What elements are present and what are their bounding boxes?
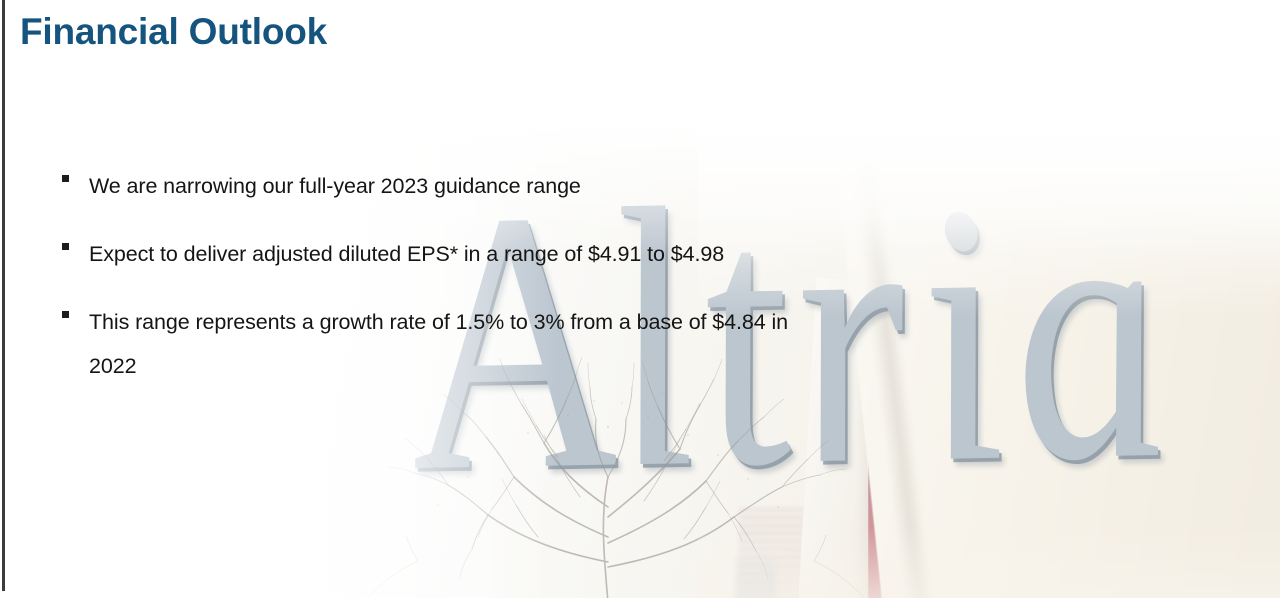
list-item: This range represents a growth rate of 1… bbox=[62, 300, 822, 388]
bullet-text: Expect to deliver adjusted diluted EPS* … bbox=[89, 232, 789, 276]
bullet-list: We are narrowing our full-year 2023 guid… bbox=[62, 164, 822, 412]
slide-content: Financial Outlook We are narrowing our f… bbox=[0, 0, 1280, 598]
square-bullet-icon bbox=[62, 311, 69, 318]
bullet-text: We are narrowing our full-year 2023 guid… bbox=[89, 164, 822, 208]
square-bullet-icon bbox=[62, 175, 69, 182]
list-item: Expect to deliver adjusted diluted EPS* … bbox=[62, 232, 822, 276]
square-bullet-icon bbox=[62, 243, 69, 250]
page-title: Financial Outlook bbox=[20, 11, 327, 53]
list-item: We are narrowing our full-year 2023 guid… bbox=[62, 164, 822, 208]
slide-canvas: Altria bbox=[0, 0, 1280, 598]
bullet-text: This range represents a growth rate of 1… bbox=[89, 300, 819, 388]
